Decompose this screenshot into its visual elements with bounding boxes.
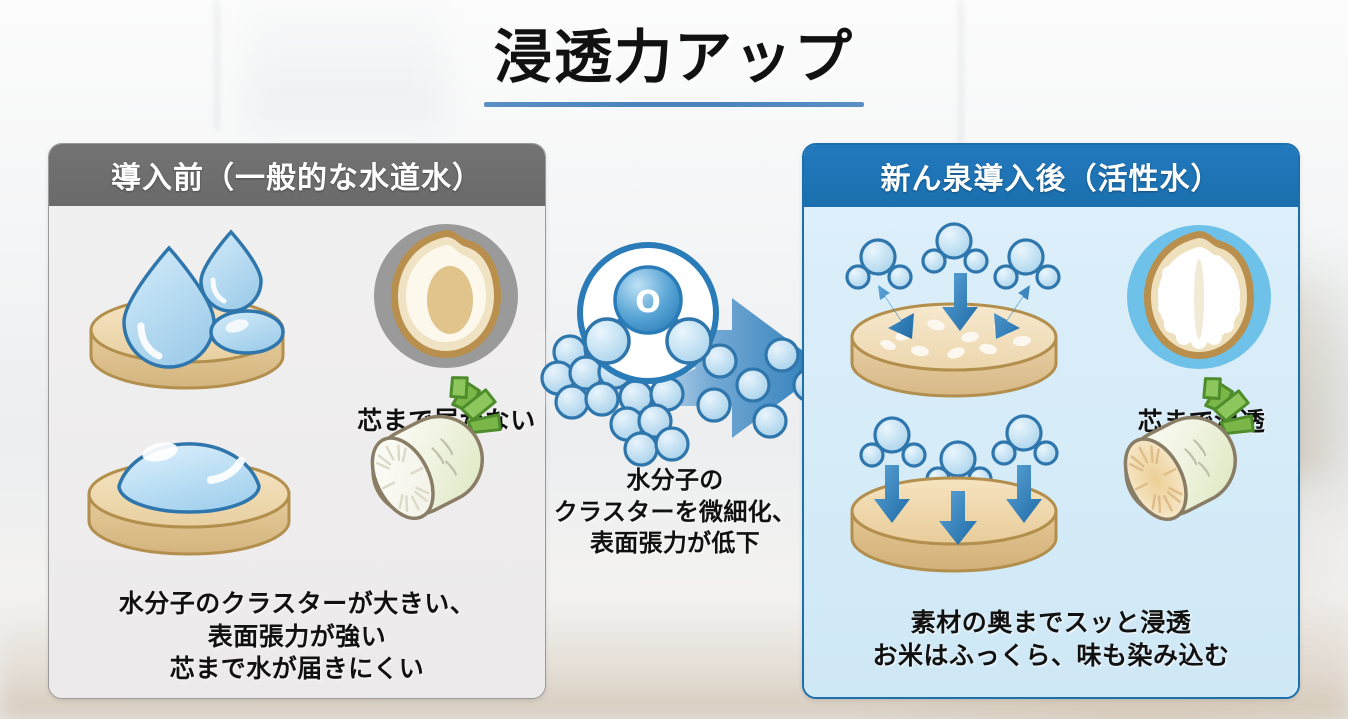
panel-after-caption: 素材の奥までスッと浸透 お米はふっくら、味も染み込む	[804, 607, 1298, 672]
center-description: 水分子の クラスターを微細化、 表面張力が低下	[526, 465, 824, 560]
center-text-line3: 表面張力が低下	[526, 528, 824, 560]
rice-grain-hard-core-icon	[351, 218, 541, 393]
beaded-water-drop-on-disc-icon	[61, 402, 326, 557]
water-molecule-icon: O	[571, 238, 726, 388]
panel-after: 新ん泉導入後（活性水）	[802, 143, 1300, 699]
panel-before-caption-line1: 水分子のクラスターが大きい、	[49, 588, 545, 621]
panel-before-caption-line3: 芯まで水が届きにくい	[49, 653, 545, 686]
center-transition-column: O 水分子の クラスターを微細化、 表面張力が低下	[546, 143, 804, 699]
rice-grain-fully-soaked-icon	[1104, 219, 1294, 394]
center-text-line2: クラスターを微細化、	[526, 497, 824, 529]
daikon-radish-white-core-icon	[349, 391, 546, 556]
panel-after-header: 新ん泉導入後（活性水）	[804, 145, 1298, 207]
panel-after-caption-line2: お米はふっくら、味も染み込む	[804, 640, 1298, 673]
center-text-line1: 水分子の	[526, 465, 824, 497]
infographic-root: 浸透力アップ 導入前（一般的な水道水）	[0, 0, 1348, 719]
panel-before-caption-line2: 表面張力が強い	[49, 621, 545, 654]
daikon-radish-amber-core-icon	[1100, 392, 1300, 562]
panel-before-header: 導入前（一般的な水道水）	[49, 144, 545, 206]
panel-before: 導入前（一般的な水道水）	[48, 143, 546, 699]
panel-before-body: 芯まで届かない	[49, 206, 545, 698]
page-title: 浸透力アップ	[484, 10, 864, 100]
molecule-badge-label: O	[635, 285, 661, 320]
title-underline	[484, 102, 864, 107]
h2o-molecules-into-rice-disc-icon	[830, 219, 1080, 394]
panel-after-caption-line1: 素材の奥までスッと浸透	[804, 607, 1298, 640]
panel-after-body: 芯まで浸透	[804, 207, 1298, 697]
water-droplets-on-disc-icon	[69, 226, 319, 386]
h2o-molecules-into-disc-icon	[834, 403, 1084, 563]
page-title-block: 浸透力アップ	[0, 10, 1348, 107]
panel-before-caption: 水分子のクラスターが大きい、 表面張力が強い 芯まで水が届きにくい	[49, 588, 545, 686]
